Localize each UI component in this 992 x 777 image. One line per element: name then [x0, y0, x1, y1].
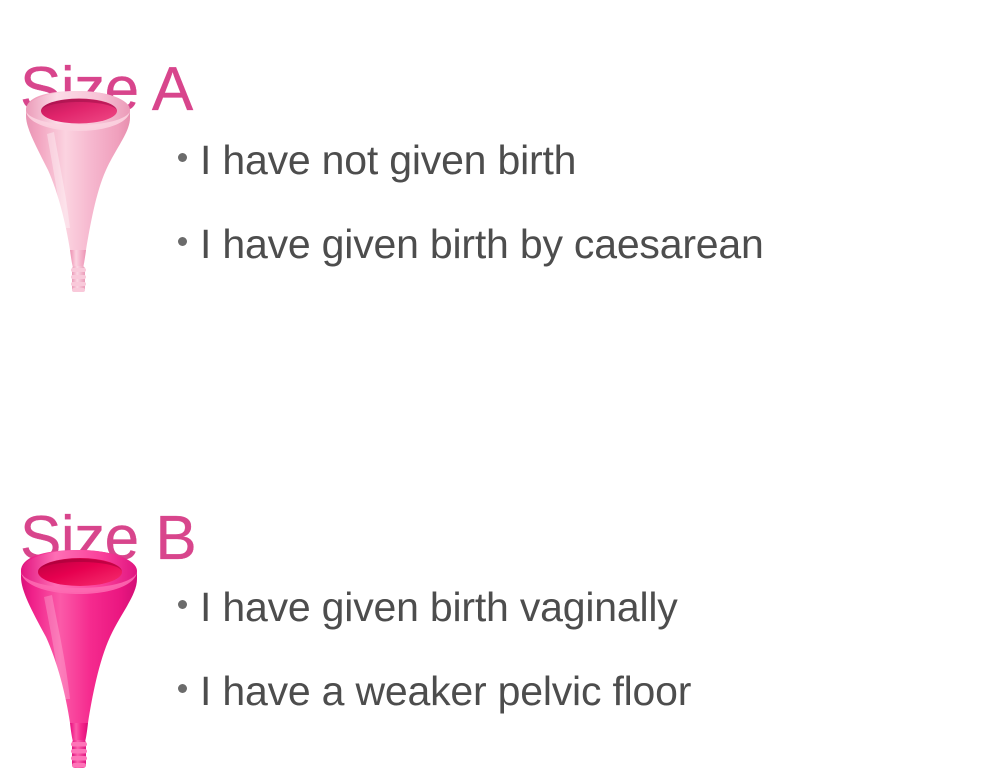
menstrual-cup-size-a-icon — [18, 88, 138, 300]
size-block-a: Size A — [0, 0, 992, 430]
bullet-dot-icon — [178, 600, 187, 609]
bullet-label: I have given birth vaginally — [200, 587, 678, 628]
bullet-label: I have given birth by caesarean — [200, 224, 764, 265]
list-item: I have given birth vaginally — [178, 587, 691, 671]
size-block-b: Size B — [0, 447, 992, 777]
list-item: I have a weaker pelvic floor — [178, 671, 691, 755]
bullet-label: I have a weaker pelvic floor — [200, 671, 691, 712]
list-item: I have given birth by caesarean — [178, 224, 764, 308]
bullet-label: I have not given birth — [200, 140, 576, 181]
bullet-dot-icon — [178, 237, 187, 246]
size-guide-container: Size A — [0, 0, 992, 777]
size-a-bullet-list: I have not given birth I have given birt… — [178, 140, 764, 308]
menstrual-cup-size-b-icon — [12, 547, 146, 775]
size-b-bullet-list: I have given birth vaginally I have a we… — [178, 587, 691, 755]
bullet-dot-icon — [178, 153, 187, 162]
bullet-dot-icon — [178, 684, 187, 693]
list-item: I have not given birth — [178, 140, 764, 224]
